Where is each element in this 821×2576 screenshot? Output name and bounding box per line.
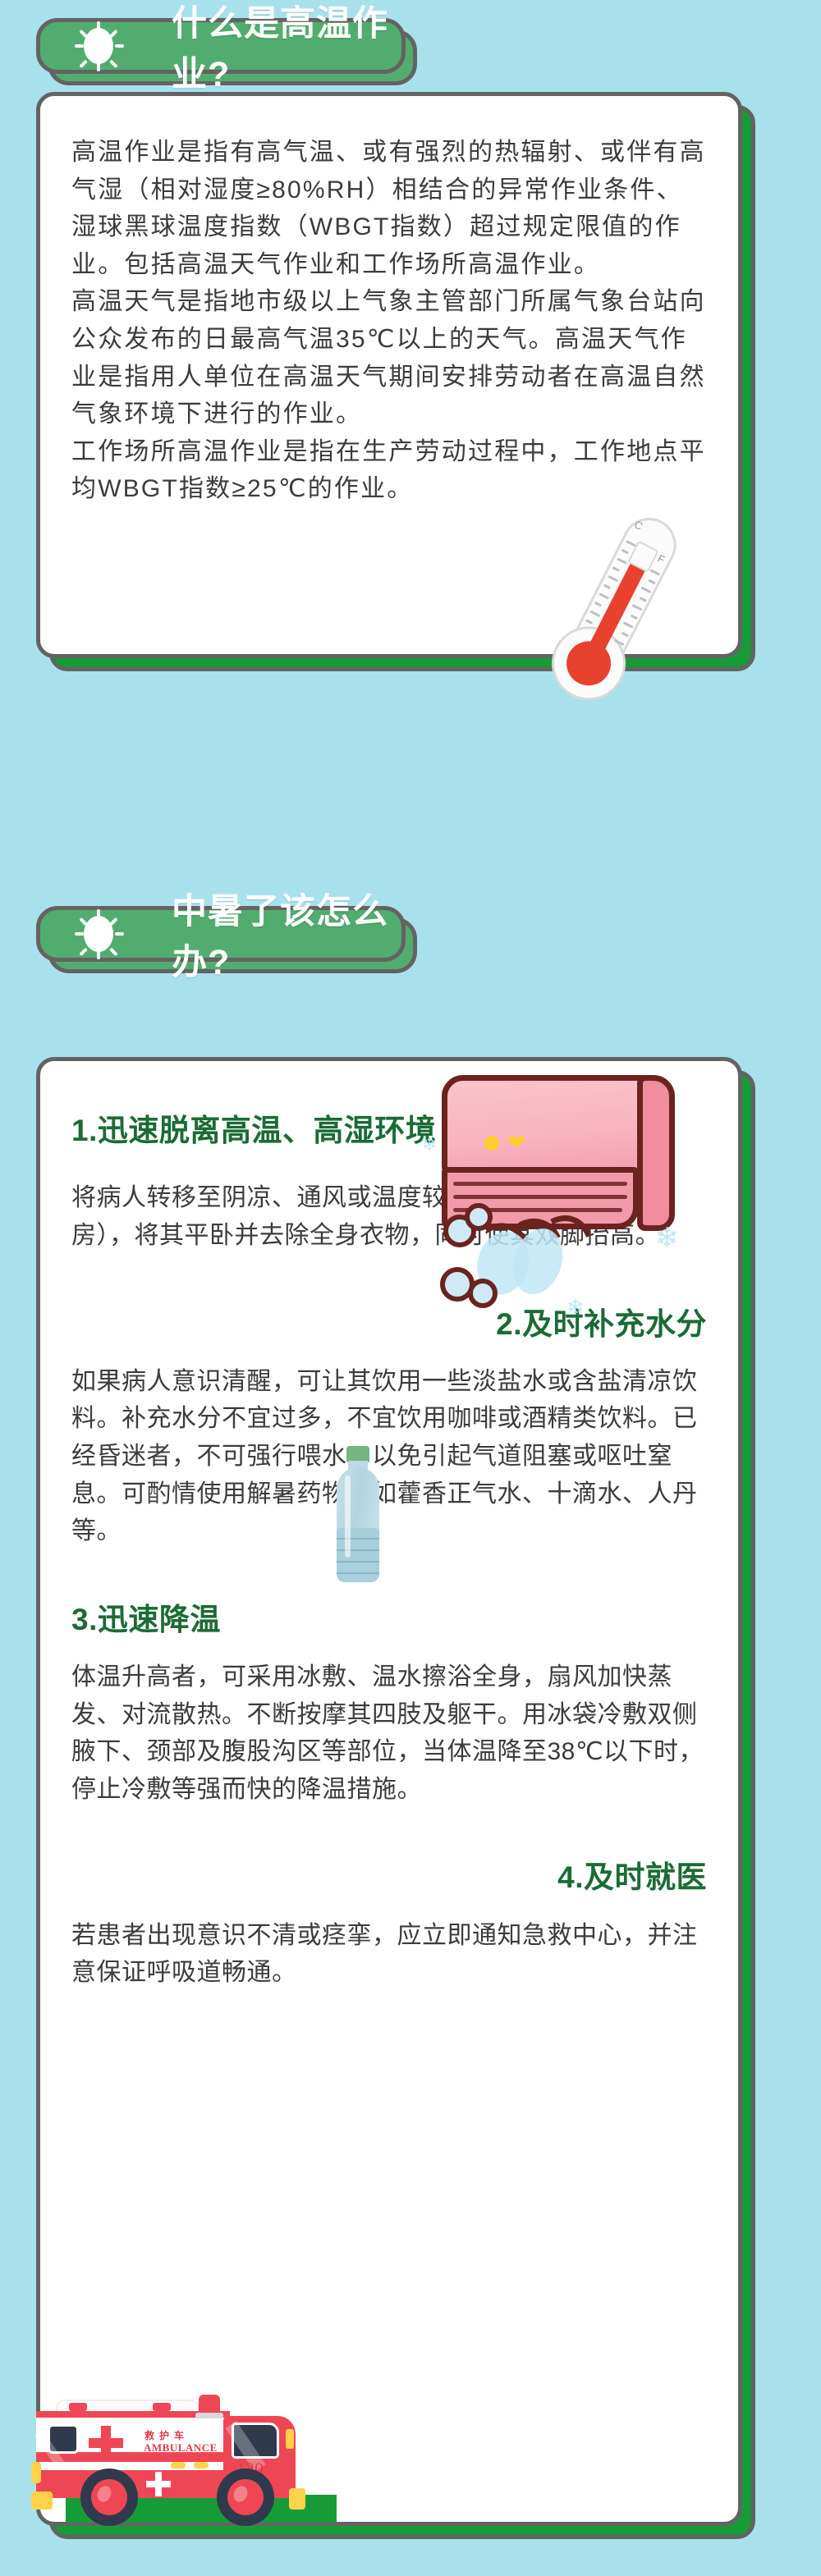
banner-title: 什么是高温作业? bbox=[172, 0, 401, 97]
snowflake-icon: ❄ bbox=[422, 1136, 437, 1154]
step-4-heading: 4.及时就医 bbox=[71, 1857, 707, 1898]
card-first-aid-steps: 1.迅速脱离高温、高湿环境 将病人转移至阴凉、通风或温度较低的环境（如空调房），… bbox=[36, 1057, 742, 2526]
ac-indicator-dot bbox=[484, 1136, 499, 1151]
step-3-body: 体温升高者，可采用冰敷、温水擦浴全身，扇风加快蒸发、对流散热。不断按摩其四肢及躯… bbox=[71, 1659, 707, 1808]
snowflake-icon: ❄ bbox=[566, 1297, 585, 1318]
step-1-heading: 1.迅速脱离高温、高湿环境 bbox=[71, 1110, 457, 1151]
siren-light-icon bbox=[199, 2395, 220, 2414]
ambulance-label-en: AMBULANCE bbox=[144, 2441, 218, 2455]
sun-icon bbox=[68, 904, 129, 964]
definition-paragraph-3: 工作场所高温作业是指在生产劳动过程中，工作地点平均WBGT指数≥25℃的作业。 bbox=[71, 433, 707, 508]
snowflake-icon: ❄ bbox=[655, 1224, 679, 1252]
ambulance-label-cn: 救护车 bbox=[144, 2428, 189, 2442]
definition-paragraph-1: 高温作业是指有高气温、或有强烈的热辐射、或伴有高气湿（相对湿度≥80%RH）相结… bbox=[71, 134, 707, 283]
infographic-page: 什么是高温作业? 高温作业是指有高气温、或有强烈的热辐射、或伴有高气湿（相对湿度… bbox=[0, 0, 821, 2576]
ambulance-icon: 救护车 AMBULANCE 120 bbox=[30, 2383, 309, 2523]
banner-what-to-do-heatstroke: 中暑了该怎么办? bbox=[36, 906, 406, 962]
card-definition: 高温作业是指有高气温、或有强烈的热辐射、或伴有高气湿（相对湿度≥80%RH）相结… bbox=[36, 92, 742, 658]
sun-icon bbox=[68, 16, 129, 76]
step-4-body: 若患者出现意识不清或痉挛，应立即通知急救中心，并注意保证呼吸道畅通。 bbox=[71, 1917, 707, 1992]
banner-what-is-heat-work: 什么是高温作业? bbox=[36, 18, 406, 74]
air-conditioner-icon: ❤ ❄ ❄ ❄ bbox=[435, 1070, 681, 1300]
banner-body: 中暑了该怎么办? bbox=[36, 906, 406, 962]
step-2-heading: 2.及时补充水分 bbox=[71, 1304, 707, 1345]
banner-title: 中暑了该怎么办? bbox=[172, 883, 401, 985]
definition-paragraph-2: 高温天气是指地市级以上气象主管部门所属气象台站向公众发布的日最高气温35℃以上的… bbox=[71, 283, 707, 432]
white-cross-icon bbox=[146, 2472, 171, 2496]
heart-icon: ❤ bbox=[507, 1132, 527, 1152]
red-cross-icon bbox=[89, 2426, 123, 2460]
banner-body: 什么是高温作业? bbox=[36, 18, 406, 74]
water-bottle-icon bbox=[325, 1446, 391, 1585]
step-3-heading: 3.迅速降温 bbox=[71, 1599, 707, 1640]
